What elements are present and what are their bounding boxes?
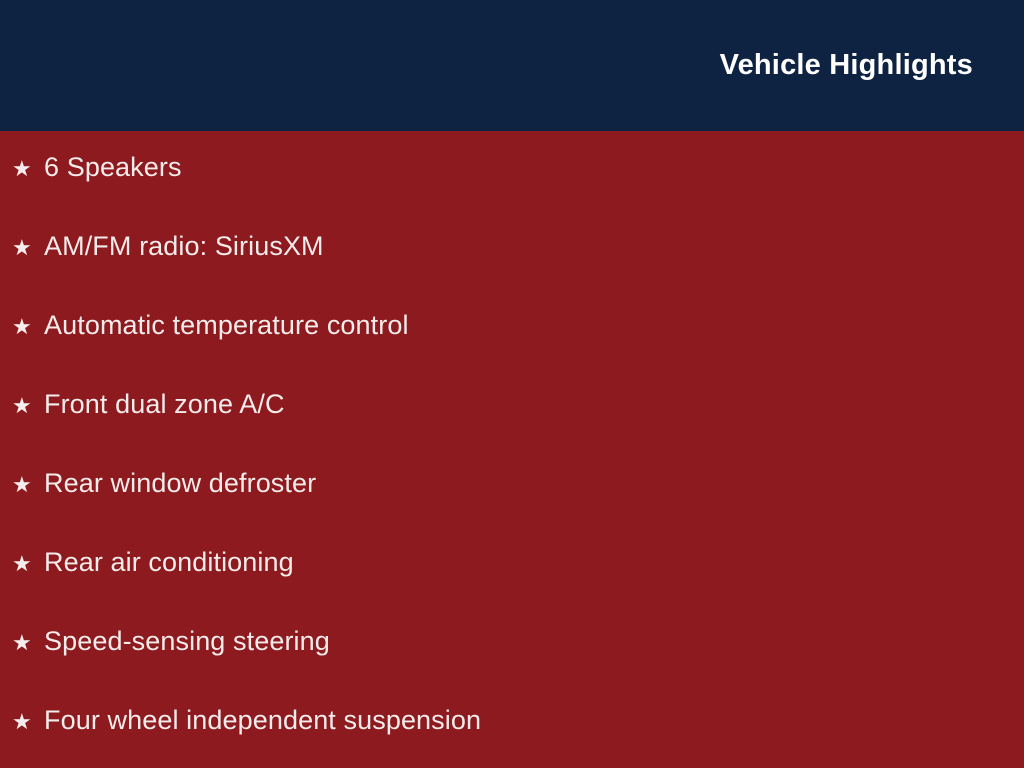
star-bullet-icon: ★	[12, 546, 44, 582]
list-item: ★ Four wheel independent suspension	[0, 702, 1024, 768]
list-item-label: 6 Speakers	[44, 149, 182, 185]
list-item-label: Rear window defroster	[44, 465, 316, 501]
list-item-label: Four wheel independent suspension	[44, 702, 481, 738]
star-bullet-icon: ★	[12, 467, 44, 503]
feature-list-panel: ★ 6 Speakers ★ AM/FM radio: SiriusXM ★ A…	[0, 131, 1024, 768]
list-item-label: Front dual zone A/C	[44, 386, 285, 422]
list-item: ★ Speed-sensing steering	[0, 623, 1024, 702]
star-bullet-icon: ★	[12, 309, 44, 345]
list-item: ★ 6 Speakers	[0, 149, 1024, 228]
star-bullet-icon: ★	[12, 230, 44, 266]
page-title: Vehicle Highlights	[720, 51, 973, 80]
star-bullet-icon: ★	[12, 151, 44, 187]
list-item: ★ Automatic temperature control	[0, 307, 1024, 386]
vehicle-highlights-slide: Vehicle Highlights ★ 6 Speakers ★ AM/FM …	[0, 0, 1024, 768]
star-bullet-icon: ★	[12, 625, 44, 661]
list-item: ★ Front dual zone A/C	[0, 386, 1024, 465]
vehicle-feature-list: ★ 6 Speakers ★ AM/FM radio: SiriusXM ★ A…	[0, 149, 1024, 768]
star-bullet-icon: ★	[12, 704, 44, 740]
slide-header-band: Vehicle Highlights	[0, 0, 1024, 131]
star-bullet-icon: ★	[12, 388, 44, 424]
list-item: ★ AM/FM radio: SiriusXM	[0, 228, 1024, 307]
list-item-label: Speed-sensing steering	[44, 623, 330, 659]
list-item-label: AM/FM radio: SiriusXM	[44, 228, 324, 264]
list-item: ★ Rear window defroster	[0, 465, 1024, 544]
list-item-label: Rear air conditioning	[44, 544, 294, 580]
list-item: ★ Rear air conditioning	[0, 544, 1024, 623]
list-item-label: Automatic temperature control	[44, 307, 409, 343]
